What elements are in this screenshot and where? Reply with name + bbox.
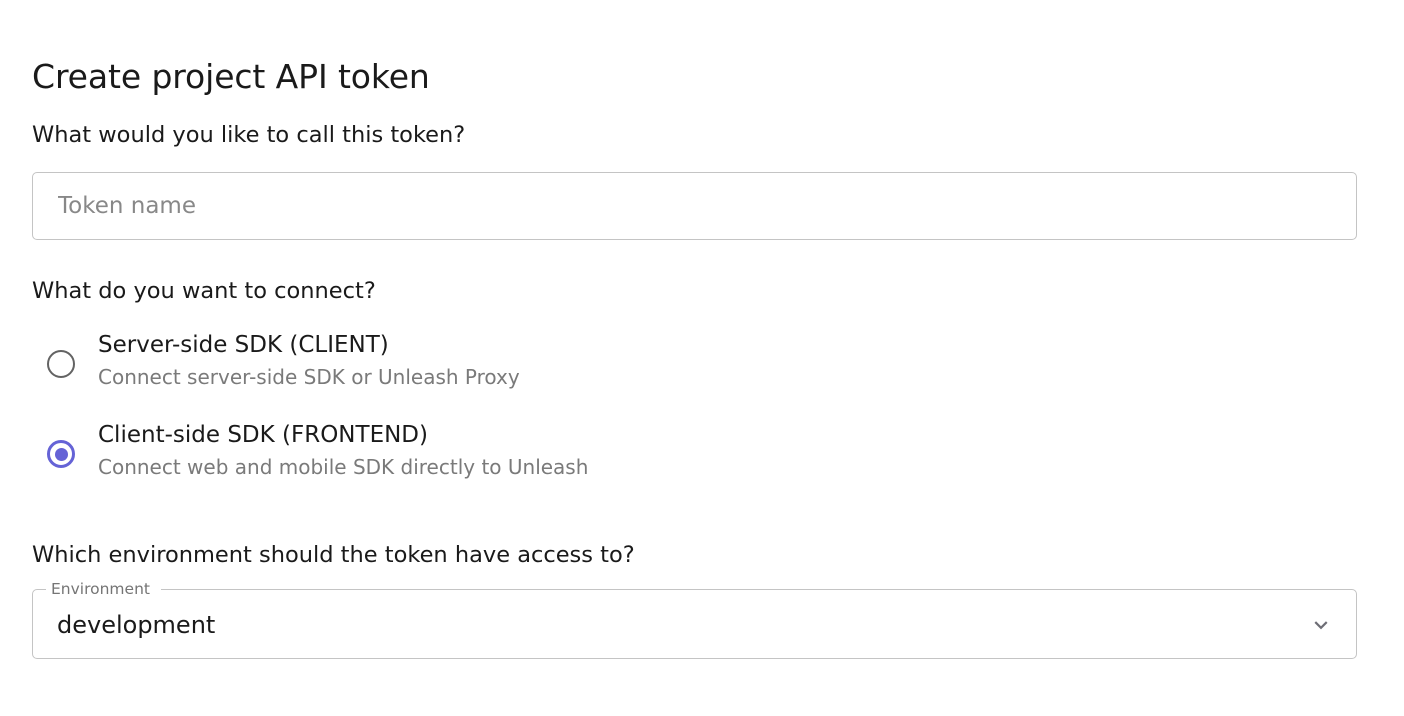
radio-outer-ring [47,440,75,468]
select-outline: Environment [32,582,1357,659]
radio-inner-dot [55,448,68,461]
token-name-question-label: What would you like to call this token? [32,120,465,150]
radio-option-label: Client-side SDK (FRONTEND) [98,422,428,448]
radio-outer-ring [47,350,75,378]
environment-select-wrapper: development Environment [32,591,1357,659]
chevron-down-icon[interactable] [1307,611,1335,639]
radio-option-text: Client-side SDK (FRONTEND) Connect web a… [82,416,588,481]
environment-select[interactable]: development Environment [32,591,1357,659]
page-title: Create project API token [32,55,430,99]
radio-option-description: Connect web and mobile SDK directly to U… [98,453,588,481]
radio-button-icon[interactable] [40,326,82,402]
token-name-input[interactable] [58,191,1331,221]
radio-option-label: Server-side SDK (CLIENT) [98,332,389,358]
connect-question-label: What do you want to connect? [32,276,376,306]
radio-option-server-side-sdk[interactable]: Server-side SDK (CLIENT) Connect server-… [32,326,1357,402]
radio-inner-dot [55,358,68,371]
environment-question-label: Which environment should the token have … [32,540,635,570]
radio-option-text: Server-side SDK (CLIENT) Connect server-… [82,326,520,391]
radio-option-description: Connect server-side SDK or Unleash Proxy [98,363,520,391]
create-api-token-form: Create project API token What would you … [0,0,1404,716]
radio-button-selected-icon[interactable] [40,416,82,492]
token-name-field[interactable] [32,172,1357,240]
token-type-radio-group: Server-side SDK (CLIENT) Connect server-… [32,326,1357,492]
environment-select-value: development [57,609,215,641]
radio-option-client-side-sdk[interactable]: Client-side SDK (FRONTEND) Connect web a… [32,416,1357,492]
